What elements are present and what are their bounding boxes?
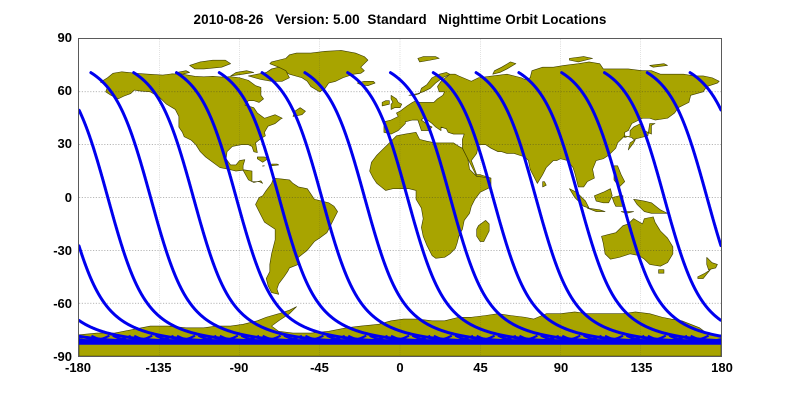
x-tick-label: 0 <box>370 360 430 375</box>
y-tick-label: -30 <box>28 243 72 258</box>
x-tick-label: 45 <box>451 360 511 375</box>
chart-figure: 2010-08-26 Version: 5.00 Standard Nightt… <box>0 0 800 400</box>
x-tick-label: -45 <box>290 360 350 375</box>
x-tick-label: -135 <box>129 360 189 375</box>
y-tick-label: 90 <box>28 30 72 45</box>
x-tick-label: -180 <box>48 360 108 375</box>
y-tick-label: 60 <box>28 83 72 98</box>
y-tick-label: 30 <box>28 136 72 151</box>
world-map-svg <box>79 39 721 356</box>
x-tick-label: 135 <box>612 360 672 375</box>
x-tick-label: 180 <box>692 360 752 375</box>
y-tick-label: 0 <box>28 190 72 205</box>
map-plot-area <box>78 38 722 357</box>
x-tick-label: 90 <box>531 360 591 375</box>
chart-title: 2010-08-26 Version: 5.00 Standard Nightt… <box>0 12 800 27</box>
y-tick-label: -60 <box>28 296 72 311</box>
x-tick-label: -90 <box>209 360 269 375</box>
